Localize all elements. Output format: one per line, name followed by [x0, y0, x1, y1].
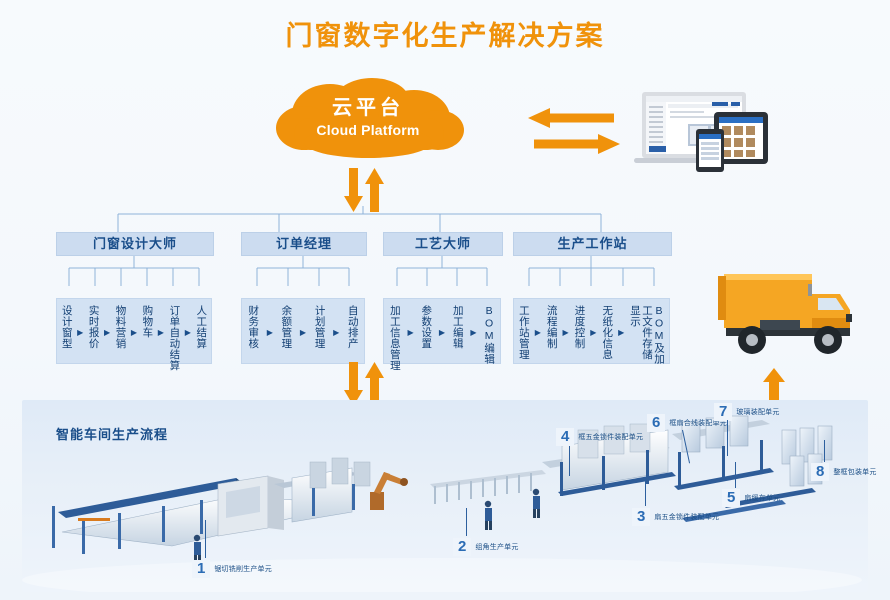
callout-leader-3 [645, 480, 646, 506]
module-connector-1 [241, 256, 365, 286]
solution-diagram: 门窗数字化生产解决方案 云平台 Cloud Platform [0, 0, 890, 600]
module-item[interactable]: 流程编制 [546, 305, 558, 349]
module-item[interactable]: 参数设置 [420, 305, 432, 349]
callout-number: 6 [647, 414, 665, 432]
module-title-3[interactable]: 生产工作站 [513, 232, 672, 256]
callout-number: 5 [722, 489, 740, 507]
flow-arrow-icon: ▶ [267, 328, 273, 337]
phone-icon [696, 129, 724, 172]
module-connector-2 [383, 256, 501, 286]
workshop-callout-8[interactable]: 8 整框包装单元 [811, 463, 877, 481]
callout-leader-8 [824, 440, 825, 462]
module-title-2[interactable]: 工艺大师 [383, 232, 503, 256]
module-items-2: 加工信息管理 ▶ 参数设置 ▶ 加工编辑 ▶ BOM编辑 [383, 298, 501, 364]
workshop-callout-1[interactable]: 1 锯切铣削生产单元 [192, 560, 272, 578]
flow-arrow-icon: ▶ [104, 328, 110, 337]
module-item[interactable]: 余额管理 [280, 305, 292, 349]
cloud-name-en: Cloud Platform [268, 120, 468, 140]
callout-number: 3 [632, 508, 650, 526]
workshop-callout-3[interactable]: 3 扇五金锁件装配单元 [632, 508, 719, 526]
callout-leader-1 [205, 520, 206, 558]
module-column-0: 门窗设计大师 设计窗型 ▶ 实时报价 ▶ 物料营销 ▶ 购物车 ▶ 订单自动结算 [56, 232, 212, 256]
module-item[interactable]: 财务审核 [247, 305, 259, 349]
callout-leader-7 [727, 420, 728, 456]
workshop-callout-2[interactable]: 2 组角生产单元 [453, 538, 519, 556]
module-item[interactable]: 计划管理 [314, 305, 326, 349]
delivery-truck-illustration [700, 258, 880, 368]
flow-arrow-icon: ▶ [185, 328, 191, 337]
workshop-callout-7[interactable]: 7 玻璃装配单元 [714, 403, 780, 421]
callout-leader-4 [569, 446, 570, 476]
truck-icon [700, 258, 880, 368]
arrow-left-icon [528, 108, 614, 128]
callout-number: 2 [453, 538, 471, 556]
callout-label: 锯切铣削生产单元 [214, 564, 272, 574]
module-item[interactable]: BOM编辑 [483, 305, 495, 365]
cloud-labels: 云平台 Cloud Platform [268, 96, 468, 140]
callout-number: 7 [714, 403, 732, 421]
unit-2-corner-line [274, 458, 546, 530]
cloud-device-sync-arrows [528, 108, 620, 156]
module-item[interactable]: 进度控制 [573, 305, 585, 349]
flow-arrow-icon: ▶ [333, 328, 339, 337]
callout-number: 8 [811, 463, 829, 481]
module-item[interactable]: 人工结算 [195, 305, 207, 349]
callout-number: 1 [192, 560, 210, 578]
module-item[interactable]: 工作站管理 [518, 305, 530, 360]
workshop-callout-4[interactable]: 4 框五金锁件装配单元 [556, 428, 643, 446]
device-mockups [628, 86, 780, 172]
flow-arrow-icon: ▶ [535, 328, 541, 337]
module-item[interactable]: 加工信息管理 [389, 305, 401, 371]
module-item[interactable]: 物料营销 [115, 305, 127, 349]
flow-arrow-icon: ▶ [590, 328, 596, 337]
module-items-0: 设计窗型 ▶ 实时报价 ▶ 物料营销 ▶ 购物车 ▶ 订单自动结算 ▶ 人工结算 [56, 298, 212, 364]
flow-arrow-icon: ▶ [77, 328, 83, 337]
flow-arrow-icon: ▶ [563, 328, 569, 337]
callout-label: 框五金锁件装配单元 [578, 432, 643, 442]
callout-leader-5 [735, 462, 736, 488]
callout-label: 扇缓存单元 [744, 493, 780, 503]
flow-arrow-icon: ▶ [439, 328, 445, 337]
worker-figure [533, 489, 540, 518]
callout-leader-2 [466, 508, 467, 536]
workshop-title: 智能车间生产流程 [56, 424, 168, 443]
module-item[interactable]: 实时报价 [88, 305, 100, 349]
module-title-1[interactable]: 订单经理 [241, 232, 367, 256]
module-title-0[interactable]: 门窗设计大师 [56, 232, 214, 256]
worker-figure [485, 501, 492, 530]
flow-arrow-icon: ▶ [407, 328, 413, 337]
module-item[interactable]: 自动排产 [347, 305, 359, 349]
module-connector-3 [513, 256, 670, 286]
callout-label: 扇五金锁件装配单元 [654, 512, 719, 522]
flow-arrow-icon: ▶ [158, 328, 164, 337]
module-column-2: 工艺大师 加工信息管理 ▶ 参数设置 ▶ 加工编辑 ▶ BOM编辑 [383, 232, 501, 256]
module-item[interactable]: 订单自动结算 [168, 305, 180, 371]
module-items-1: 财务审核 ▶ 余额管理 ▶ 计划管理 ▶ 自动排产 [241, 298, 365, 364]
module-connector-0 [56, 256, 212, 286]
module-items-3: 工作站管理 ▶ 流程编制 ▶ 进度控制 ▶ 无纸化信息 ▶ BOM及加工文件存储… [513, 298, 670, 364]
workshop-callout-5[interactable]: 5 扇缓存单元 [722, 489, 780, 507]
module-item[interactable]: 设计窗型 [61, 305, 73, 349]
page-title: 门窗数字化生产解决方案 [0, 14, 890, 53]
flow-arrow-icon: ▶ [300, 328, 306, 337]
module-column-1: 订单经理 财务审核 ▶ 余额管理 ▶ 计划管理 ▶ 自动排产 [241, 232, 365, 256]
callout-label: 组角生产单元 [475, 542, 518, 552]
module-item[interactable]: 加工编辑 [452, 305, 464, 349]
callout-number: 4 [556, 428, 574, 446]
flow-arrow-icon: ▶ [470, 328, 476, 337]
flow-arrow-icon: ▶ [618, 328, 624, 337]
module-column-3: 生产工作站 工作站管理 ▶ 流程编制 ▶ 进度控制 ▶ 无纸化信息 ▶ BOM及… [513, 232, 670, 256]
flow-arrow-icon: ▶ [131, 328, 137, 337]
module-item[interactable]: 无纸化信息 [601, 305, 613, 360]
module-item[interactable]: 购物车 [141, 305, 153, 338]
cloud-name-cn: 云平台 [268, 96, 468, 120]
callout-label: 整框包装单元 [833, 467, 876, 477]
robot-arm [370, 472, 408, 510]
callout-label: 玻璃装配单元 [736, 407, 779, 417]
cloud-platform-node: 云平台 Cloud Platform [268, 78, 468, 166]
arrow-right-icon [534, 134, 620, 154]
module-item[interactable]: BOM及加工文件存储显示 [629, 305, 665, 365]
